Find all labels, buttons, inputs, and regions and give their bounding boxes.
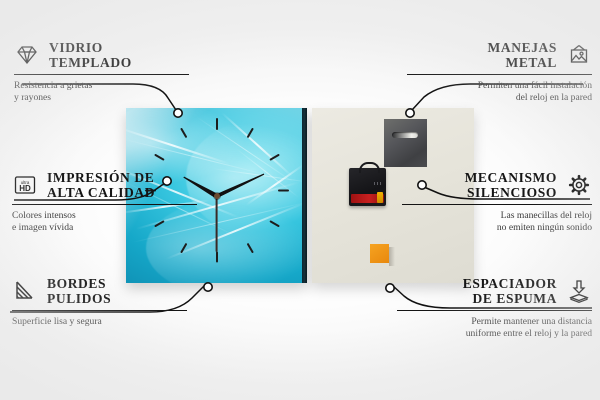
hanging-picture-icon	[566, 42, 592, 68]
divider	[14, 74, 189, 75]
feature-title: MECANISMO	[465, 170, 557, 185]
hour-tick	[216, 251, 218, 262]
feature-vidrio-templado: VIDRIO TEMPLADO Resistencia a grietas y …	[14, 40, 189, 104]
feature-title: MANEJAS	[488, 40, 557, 55]
second-hand	[216, 196, 218, 252]
infographic-stage: VIDRIO TEMPLADO Resistencia a grietas y …	[0, 0, 600, 400]
feature-subtitle: Permiten una fácil instalación	[407, 80, 592, 92]
feature-subtitle: uniforme entre el reloj y la pared	[397, 328, 592, 340]
feature-title: ESPACIADOR	[463, 276, 557, 291]
feature-title: IMPRESIÓN DE	[47, 170, 155, 185]
feature-espaciador-espuma: ESPACIADOR DE ESPUMA Permite mantener un…	[397, 276, 592, 340]
feature-title: PULIDOS	[47, 291, 111, 306]
clock-mechanism	[349, 168, 386, 206]
hour-tick	[269, 220, 280, 227]
feature-subtitle: e imagen vívida	[12, 222, 197, 234]
mechanism-loop	[359, 162, 380, 173]
diagonal-lines-icon	[12, 278, 38, 304]
feature-title: ALTA CALIDAD	[47, 185, 155, 200]
feature-mecanismo-silencioso: MECANISMO SILENCIOSO Las manecillas del …	[402, 170, 592, 234]
feature-bordes-pulidos: BORDES PULIDOS Superficie lisa y segura	[12, 276, 187, 328]
hour-tick	[180, 242, 187, 253]
hour-tick	[269, 153, 280, 160]
feature-title: VIDRIO	[49, 40, 132, 55]
feature-subtitle: y rayones	[14, 92, 189, 104]
glass-edge	[302, 108, 307, 283]
feature-subtitle: Superficie lisa y segura	[12, 316, 187, 328]
svg-text:HD: HD	[19, 184, 31, 193]
clock-hub	[214, 193, 220, 199]
hour-tick	[180, 127, 187, 138]
arrow-down-pad-icon	[566, 278, 592, 304]
hour-tick	[246, 127, 253, 138]
diamond-icon	[14, 42, 40, 68]
foam-spacer	[370, 244, 389, 263]
feature-subtitle: Permite mantener una distancia	[397, 316, 592, 328]
feature-subtitle: del reloj en la pared	[407, 92, 592, 104]
hanger-slot	[392, 132, 418, 138]
hour-tick	[154, 153, 165, 160]
hour-tick	[278, 189, 289, 191]
feature-title: TEMPLADO	[49, 55, 132, 70]
hour-tick	[216, 118, 218, 130]
minute-hand	[216, 172, 265, 198]
divider	[12, 204, 197, 205]
connector-endpoint	[386, 284, 394, 292]
divider	[402, 204, 592, 205]
battery-compartment	[351, 194, 384, 203]
feature-manejas-metal: MANEJAS METAL Permiten una fácil instala…	[407, 40, 592, 104]
gear-icon	[566, 172, 592, 198]
ultra-hd-icon: ultra HD	[12, 172, 38, 198]
metal-hanger	[384, 119, 427, 167]
feature-title: SILENCIOSO	[465, 185, 557, 200]
feature-subtitle: Resistencia a grietas	[14, 80, 189, 92]
divider	[12, 310, 187, 311]
feature-title: METAL	[488, 55, 557, 70]
connector-endpoint	[204, 283, 212, 291]
feature-subtitle: no emiten ningún sonido	[402, 222, 592, 234]
mechanism-detail	[374, 182, 383, 185]
divider	[397, 310, 592, 311]
divider	[407, 74, 592, 75]
feature-impresion-alta-calidad: ultra HD IMPRESIÓN DE ALTA CALIDAD Color…	[12, 170, 197, 234]
hour-tick	[246, 242, 253, 253]
feature-title: BORDES	[47, 276, 111, 291]
feature-title: DE ESPUMA	[463, 291, 557, 306]
feature-subtitle: Las manecillas del reloj	[402, 210, 592, 222]
feature-subtitle: Colores intensos	[12, 210, 197, 222]
